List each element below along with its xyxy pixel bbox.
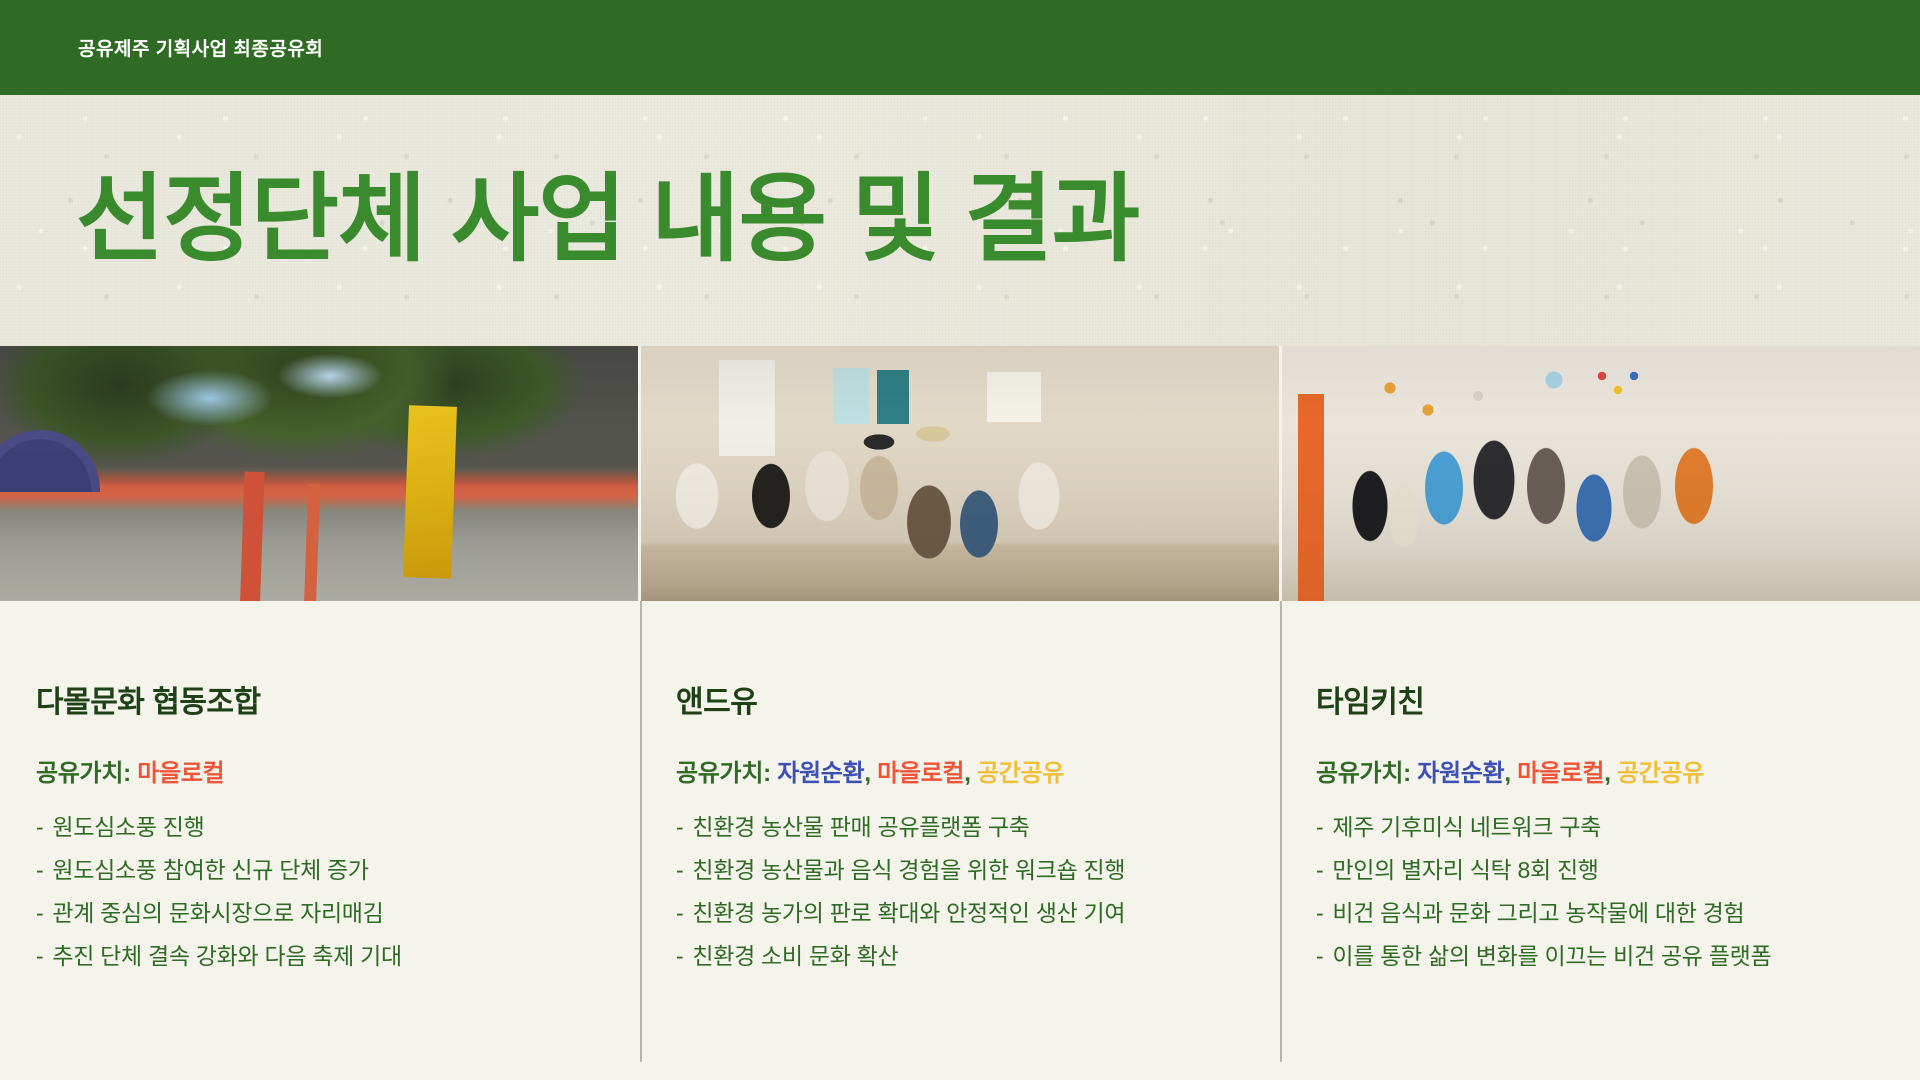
- value-tag-recycle: 자원순환: [1417, 760, 1504, 787]
- shared-value-label: 공유가치:: [1316, 760, 1411, 787]
- title-band: 선정단체 사업 내용 및 결과: [0, 95, 1920, 346]
- value-tag-local: 마을로컬: [137, 760, 224, 787]
- list-item-text: 만인의 별자리 식탁 8회 진행: [1332, 857, 1598, 883]
- value-separator: ,: [864, 760, 870, 787]
- content-columns: 다몰문화 협동조합 공유가치: 마을로컬 -원도심소풍 진행 -원도심소풍 참여…: [0, 601, 1920, 1080]
- value-tag-local: 마을로컬: [1517, 760, 1604, 787]
- list-item: -비건 음식과 문화 그리고 농작물에 대한 경험: [1316, 892, 1890, 935]
- value-separator: ,: [964, 760, 970, 787]
- list-item-text: 제주 기후미식 네트워크 구축: [1332, 814, 1601, 840]
- list-item: -이를 통한 삶의 변화를 이끄는 비건 공유 플랫폼: [1316, 935, 1890, 978]
- org-name: 다몰문화 협동조합: [36, 677, 610, 721]
- column-andyou: 앤드유 공유가치: 자원순환, 마을로컬, 공간공유 -친환경 농산물 판매 공…: [640, 601, 1280, 1080]
- list-item-text: 원도심소풍 참여한 신규 단체 증가: [52, 857, 368, 883]
- shared-value-label: 공유가치:: [36, 760, 131, 787]
- list-item-text: 관계 중심의 문화시장으로 자리매김: [52, 900, 383, 926]
- list-item: -친환경 소비 문화 확산: [676, 935, 1250, 978]
- dash-marker: -: [1316, 943, 1323, 969]
- shared-value-line: 공유가치: 마을로컬: [36, 753, 610, 788]
- list-item-text: 친환경 소비 문화 확산: [692, 943, 898, 969]
- result-list: -친환경 농산물 판매 공유플랫폼 구축 -친환경 농산물과 음식 경험을 위한…: [676, 806, 1250, 978]
- photo-damol-market: [0, 346, 641, 601]
- list-item-text: 추진 단체 결속 강화와 다음 축제 기대: [52, 943, 401, 969]
- org-name: 앤드유: [676, 677, 1250, 721]
- list-item: -만인의 별자리 식탁 8회 진행: [1316, 849, 1890, 892]
- dash-marker: -: [36, 814, 43, 840]
- list-item: -친환경 농산물 판매 공유플랫폼 구축: [676, 806, 1250, 849]
- list-item-text: 원도심소풍 진행: [52, 814, 204, 840]
- dash-marker: -: [1316, 857, 1323, 883]
- photo-overlay: [1282, 346, 1920, 601]
- shared-value-line: 공유가치: 자원순환, 마을로컬, 공간공유: [1316, 753, 1890, 788]
- list-item: -친환경 농가의 판로 확대와 안정적인 생산 기여: [676, 892, 1250, 935]
- column-damol: 다몰문화 협동조합 공유가치: 마을로컬 -원도심소풍 진행 -원도심소풍 참여…: [0, 601, 640, 1080]
- list-item-text: 친환경 농산물 판매 공유플랫폼 구축: [692, 814, 1029, 840]
- list-item: -친환경 농산물과 음식 경험을 위한 워크숍 진행: [676, 849, 1250, 892]
- photo-timekitchen-group: [1282, 346, 1920, 601]
- page-title: 선정단체 사업 내용 및 결과: [76, 170, 1139, 271]
- dash-marker: -: [36, 900, 43, 926]
- dash-marker: -: [36, 943, 43, 969]
- dash-marker: -: [36, 857, 43, 883]
- dash-marker: -: [1316, 814, 1323, 840]
- value-tag-recycle: 자원순환: [777, 760, 864, 787]
- list-item-text: 이를 통한 삶의 변화를 이끄는 비건 공유 플랫폼: [1332, 943, 1771, 969]
- list-item-text: 비건 음식과 문화 그리고 농작물에 대한 경험: [1332, 900, 1744, 926]
- dash-marker: -: [676, 857, 683, 883]
- dash-marker: -: [676, 943, 683, 969]
- event-title-label: 공유제주 기획사업 최종공유회: [78, 34, 323, 61]
- photo-overlay: [641, 346, 1279, 601]
- shared-value-label: 공유가치:: [676, 760, 771, 787]
- photo-overlay: [0, 346, 638, 601]
- value-separator: ,: [1604, 760, 1610, 787]
- list-item: -관계 중심의 문화시장으로 자리매김: [36, 892, 610, 935]
- list-item: -원도심소풍 진행: [36, 806, 610, 849]
- org-name: 타임키친: [1316, 677, 1890, 721]
- presentation-slide: 공유제주 기획사업 최종공유회 선정단체 사업 내용 및 결과 다몰문화 협동조…: [0, 0, 1920, 1080]
- top-header-bar: 공유제주 기획사업 최종공유회: [0, 0, 1920, 95]
- value-tag-local: 마을로컬: [877, 760, 964, 787]
- dash-marker: -: [1316, 900, 1323, 926]
- shared-value-line: 공유가치: 자원순환, 마을로컬, 공간공유: [676, 753, 1250, 788]
- photo-strip: [0, 346, 1920, 601]
- list-item: -추진 단체 결속 강화와 다음 축제 기대: [36, 935, 610, 978]
- photo-andyou-workshop: [641, 346, 1282, 601]
- list-item-text: 친환경 농산물과 음식 경험을 위한 워크숍 진행: [692, 857, 1125, 883]
- list-item-text: 친환경 농가의 판로 확대와 안정적인 생산 기여: [692, 900, 1125, 926]
- list-item: -원도심소풍 참여한 신규 단체 증가: [36, 849, 610, 892]
- value-tag-space: 공간공유: [977, 760, 1064, 787]
- result-list: -제주 기후미식 네트워크 구축 -만인의 별자리 식탁 8회 진행 -비건 음…: [1316, 806, 1890, 978]
- value-tag-space: 공간공유: [1617, 760, 1704, 787]
- dash-marker: -: [676, 900, 683, 926]
- result-list: -원도심소풍 진행 -원도심소풍 참여한 신규 단체 증가 -관계 중심의 문화…: [36, 806, 610, 978]
- value-separator: ,: [1504, 760, 1510, 787]
- list-item: -제주 기후미식 네트워크 구축: [1316, 806, 1890, 849]
- dash-marker: -: [676, 814, 683, 840]
- column-timekitchen: 타임키친 공유가치: 자원순환, 마을로컬, 공간공유 -제주 기후미식 네트워…: [1280, 601, 1920, 1080]
